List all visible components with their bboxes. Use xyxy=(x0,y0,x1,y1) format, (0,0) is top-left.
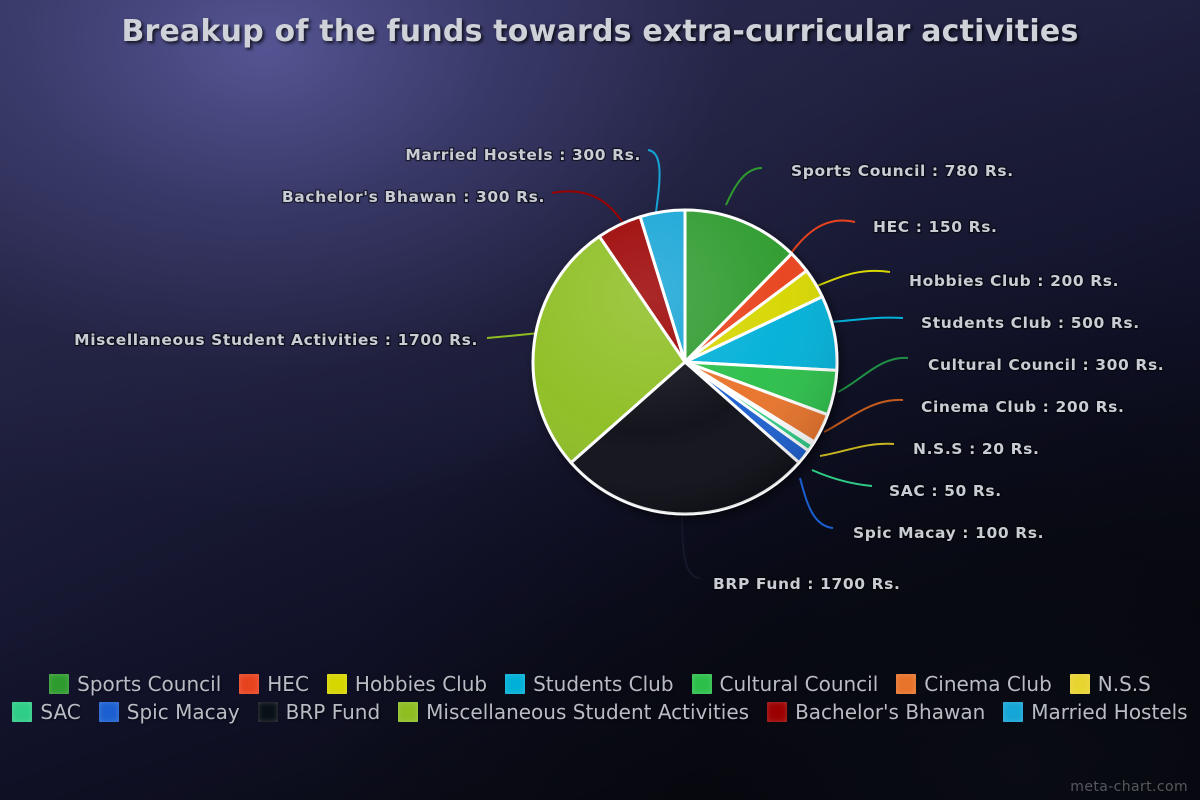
legend-item-label: Miscellaneous Student Activities xyxy=(426,700,749,724)
callout-students-club-leader xyxy=(828,318,903,322)
callout-hec: HEC : 150 Rs. xyxy=(873,218,998,236)
callout-sac: SAC : 50 Rs. xyxy=(889,482,1002,500)
chart-canvas: Breakup of the funds towards extra-curri… xyxy=(0,0,1200,800)
callout-cultural-council-leader xyxy=(838,358,908,392)
pie-slices xyxy=(533,210,837,514)
legend-item-label: HEC xyxy=(267,672,309,696)
callout-n-s-s-leader xyxy=(820,444,894,456)
callout-bachelors-bhawan: Bachelor's Bhawan : 300 Rs. xyxy=(282,188,545,206)
callout-students-club: Students Club : 500 Rs. xyxy=(921,314,1140,332)
legend-swatch-icon xyxy=(49,674,69,694)
legend-item[interactable]: Bachelor's Bhawan xyxy=(767,700,985,724)
legend-item[interactable]: Married Hostels xyxy=(1003,700,1187,724)
legend-swatch-icon xyxy=(896,674,916,694)
legend-item-label: N.S.S xyxy=(1098,672,1151,696)
callout-n-s-s: N.S.S : 20 Rs. xyxy=(913,440,1039,458)
legend-item-label: Cinema Club xyxy=(924,672,1052,696)
legend-swatch-icon xyxy=(767,702,787,722)
legend-swatch-icon xyxy=(12,702,32,722)
legend-item[interactable]: Hobbies Club xyxy=(327,672,487,696)
legend-swatch-icon xyxy=(1070,674,1090,694)
legend-item[interactable]: SAC xyxy=(12,700,80,724)
legend-swatch-icon xyxy=(1003,702,1023,722)
legend-swatch-icon xyxy=(327,674,347,694)
callout-cultural-council: Cultural Council : 300 Rs. xyxy=(928,356,1164,374)
legend-swatch-icon xyxy=(258,702,278,722)
legend-item-label: BRP Fund xyxy=(286,700,381,724)
legend-item-label: Bachelor's Bhawan xyxy=(795,700,985,724)
legend-swatch-icon xyxy=(398,702,418,722)
callout-bachelors-bhawan-leader xyxy=(552,191,623,223)
legend-item-label: Hobbies Club xyxy=(355,672,487,696)
callout-sports-council-leader xyxy=(726,168,762,205)
callout-cinema-club-leader xyxy=(824,400,903,432)
legend-item[interactable]: Sports Council xyxy=(49,672,221,696)
legend-item[interactable]: Cultural Council xyxy=(692,672,879,696)
legend-item[interactable]: HEC xyxy=(239,672,309,696)
callout-hobbies-club: Hobbies Club : 200 Rs. xyxy=(909,272,1119,290)
legend-item-label: Married Hostels xyxy=(1031,700,1187,724)
legend-item[interactable]: Miscellaneous Student Activities xyxy=(398,700,749,724)
legend-item[interactable]: Cinema Club xyxy=(896,672,1052,696)
legend-swatch-icon xyxy=(239,674,259,694)
legend-item-label: Cultural Council xyxy=(720,672,879,696)
callout-spic-macay: Spic Macay : 100 Rs. xyxy=(853,524,1044,542)
legend-swatch-icon xyxy=(692,674,712,694)
legend-item-label: Students Club xyxy=(533,672,673,696)
callout-brp-fund-leader xyxy=(682,516,700,578)
legend-item[interactable]: BRP Fund xyxy=(258,700,381,724)
legend-item-label: Sports Council xyxy=(77,672,221,696)
callout-married-hostels: Married Hostels : 300 Rs. xyxy=(405,146,641,164)
watermark: meta-chart.com xyxy=(1070,779,1188,795)
chart-legend: Sports CouncilHECHobbies ClubStudents Cl… xyxy=(0,672,1200,724)
callout-cinema-club: Cinema Club : 200 Rs. xyxy=(921,398,1124,416)
callout-sac-leader xyxy=(812,470,872,486)
callout-married-hostels-leader xyxy=(648,150,660,212)
callout-brp-fund: BRP Fund : 1700 Rs. xyxy=(713,575,900,593)
legend-swatch-icon xyxy=(505,674,525,694)
legend-item[interactable]: Students Club xyxy=(505,672,673,696)
callout-spic-macay-leader xyxy=(800,478,833,528)
legend-item[interactable]: N.S.S xyxy=(1070,672,1151,696)
callout-sports-council: Sports Council : 780 Rs. xyxy=(791,162,1014,180)
callout-misc-student-activities: Miscellaneous Student Activities : 1700 … xyxy=(74,331,478,349)
legend-swatch-icon xyxy=(99,702,119,722)
legend-item-label: Spic Macay xyxy=(127,700,240,724)
legend-item-label: SAC xyxy=(40,700,80,724)
legend-item[interactable]: Spic Macay xyxy=(99,700,240,724)
